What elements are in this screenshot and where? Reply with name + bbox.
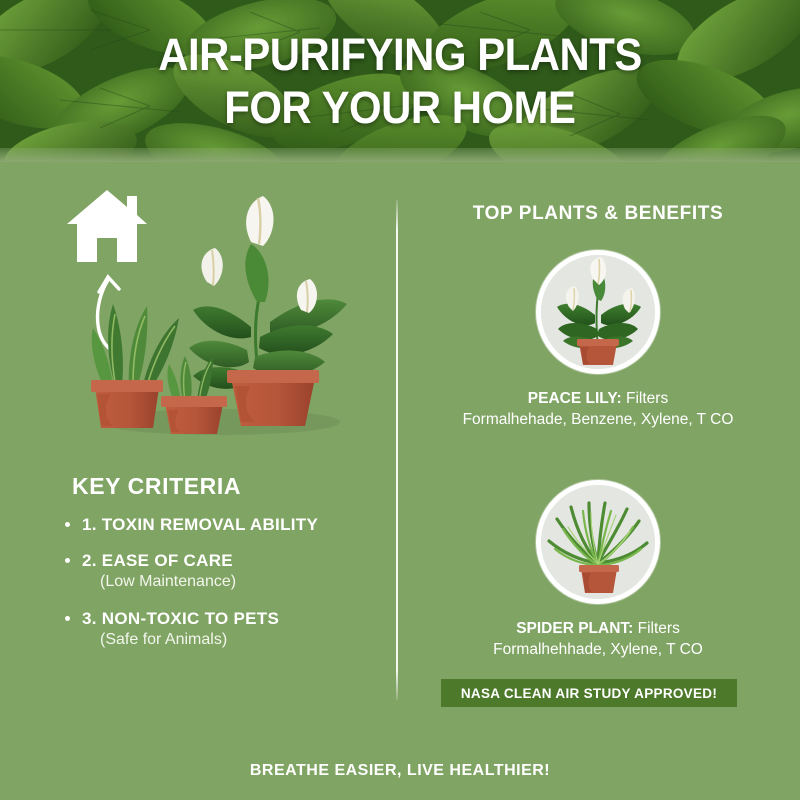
bullet-icon: [65, 616, 70, 621]
right-column: TOP PLANTS & BENEFITS: [396, 162, 800, 742]
header-banner: AIR-PURIFYING PLANTS FOR YOUR HOME: [0, 0, 800, 162]
page-title: AIR-PURIFYING PLANTS FOR YOUR HOME: [0, 0, 800, 162]
criteria-sub-text: (Low Maintenance): [82, 571, 390, 593]
house-icon-shape: [67, 190, 147, 262]
peace-lily-filters-list: Formalhehade, Benzene, Xylene, T CO: [418, 409, 778, 430]
peace-lily-filters-label: Filters: [622, 390, 669, 407]
criteria-main-text: 3. NON-TOXIC TO PETS: [82, 608, 390, 629]
plant-card-peace-lily: PEACE LILY: Filters Formalhehade, Benzen…: [396, 250, 800, 430]
criteria-main-text: 2. EASE OF CARE: [82, 550, 390, 571]
criteria-list: 1. TOXIN REMOVAL ABILITY 2. EASE OF CARE…: [60, 514, 390, 666]
spider-plant-name: SPIDER PLANT:: [516, 620, 633, 637]
peace-lily-name: PEACE LILY:: [528, 390, 622, 407]
spider-plant-photo-icon: [536, 480, 660, 604]
criteria-sub-text: (Safe for Animals): [82, 629, 390, 651]
footer-tagline: BREATHE EASIER, LIVE HEALTHIER!: [0, 742, 800, 800]
criteria-main-text: 1. TOXIN REMOVAL ABILITY: [82, 514, 390, 535]
plant-card-spider-plant: SPIDER PLANT: Filters Formalhehhade, Xyl…: [396, 480, 800, 660]
footer-tagline-text: BREATHE EASIER, LIVE HEALTHIER!: [250, 762, 550, 780]
illustration-peace-lily: [189, 196, 347, 426]
spider-plant-filters-list: Formalhehhade, Xylene, T CO: [418, 639, 778, 660]
home-plants-illustration: [55, 182, 355, 447]
left-column: KEY CRITERIA 1. TOXIN REMOVAL ABILITY 2.…: [0, 162, 396, 742]
key-criteria-heading: KEY CRITERIA: [72, 473, 241, 500]
title-line-2: FOR YOUR HOME: [224, 81, 575, 134]
spider-plant-filters-label: Filters: [633, 620, 680, 637]
nasa-approved-badge: NASA CLEAN AIR STUDY APPROVED!: [441, 679, 737, 707]
top-plants-heading: TOP PLANTS & BENEFITS: [396, 203, 800, 225]
bullet-icon: [65, 522, 70, 527]
infographic-page: AIR-PURIFYING PLANTS FOR YOUR HOME: [0, 0, 800, 800]
nasa-badge-label: NASA CLEAN AIR STUDY APPROVED!: [461, 686, 717, 701]
spider-plant-caption: SPIDER PLANT: Filters Formalhehhade, Xyl…: [396, 618, 800, 660]
list-item: 2. EASE OF CARE (Low Maintenance): [60, 550, 390, 593]
illustration-snake-plant: [91, 304, 179, 428]
title-line-1: AIR-PURIFYING PLANTS: [158, 28, 642, 81]
column-divider: [396, 200, 398, 700]
peace-lily-caption: PEACE LILY: Filters Formalhehade, Benzen…: [396, 388, 800, 430]
bullet-icon: [65, 558, 70, 563]
list-item: 3. NON-TOXIC TO PETS (Safe for Animals): [60, 608, 390, 651]
list-item: 1. TOXIN REMOVAL ABILITY: [60, 514, 390, 535]
peace-lily-photo-icon: [536, 250, 660, 374]
